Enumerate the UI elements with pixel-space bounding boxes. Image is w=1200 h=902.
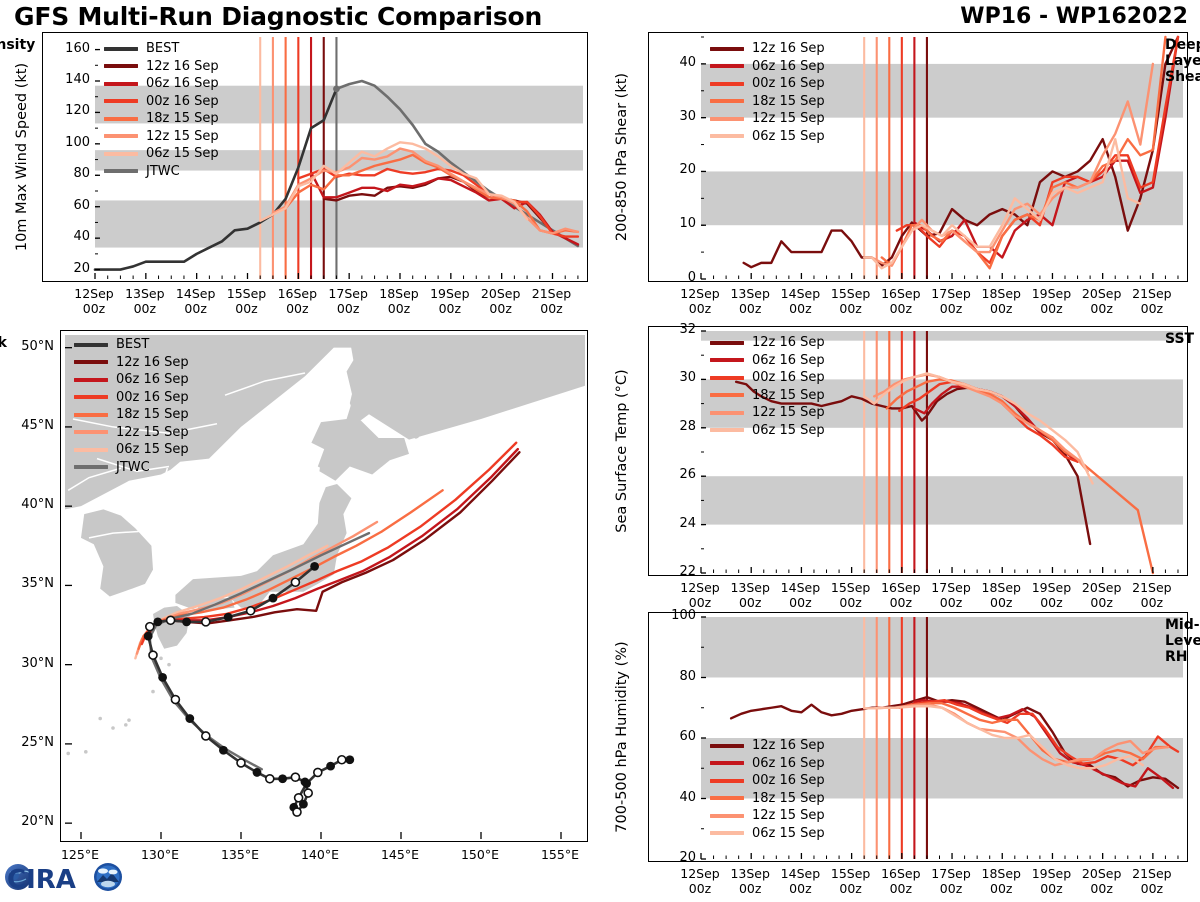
ytick-lat: 20°N [8, 814, 54, 829]
legend-item[interactable]: 06z 15 Sep [710, 422, 825, 440]
panel-tag-rh: Mid-Level RH [1165, 617, 1179, 665]
legend-swatch [710, 376, 744, 380]
legend-swatch [74, 465, 108, 469]
legend-swatch [74, 430, 108, 434]
legend-swatch [710, 428, 744, 432]
legend-swatch [104, 99, 138, 103]
ytick-lat: 30°N [8, 656, 54, 671]
legend-item[interactable]: 06z 16 Sep [74, 371, 189, 389]
xtick-lon: 155°E [530, 847, 590, 862]
legend-label: 12z 15 Sep [146, 130, 219, 143]
legend-track: BEST12z 16 Sep06z 16 Sep00z 16 Sep18z 15… [74, 336, 189, 476]
legend-label: 12z 15 Sep [752, 809, 825, 822]
legend-item[interactable]: 12z 15 Sep [74, 424, 189, 442]
legend-item[interactable]: JTWC [104, 163, 219, 181]
legend-item[interactable]: 06z 15 Sep [104, 145, 219, 163]
ylabel-rh: 700-500 hPa Humidity (%) [614, 641, 630, 832]
legend-shear: 12z 16 Sep06z 16 Sep00z 16 Sep18z 15 Sep… [710, 40, 825, 145]
legend-item[interactable]: 00z 16 Sep [74, 389, 189, 407]
ytick-sst: 26 [660, 467, 696, 482]
legend-label: 06z 15 Sep [116, 443, 189, 456]
ytick-rh: 60 [660, 729, 696, 744]
xtick-lon: 150°E [450, 847, 510, 862]
xtick-hour-intensity: 00z [522, 301, 582, 316]
legend-item[interactable]: 06z 16 Sep [710, 352, 825, 370]
legend-label: 00z 16 Sep [752, 371, 825, 384]
legend-label: 06z 16 Sep [116, 373, 189, 386]
ytick-intensity: 80 [54, 166, 90, 181]
legend-swatch [74, 378, 108, 382]
xtick-date-shear: 21Sep [1122, 286, 1182, 301]
legend-swatch [104, 134, 138, 138]
legend-item[interactable]: 12z 15 Sep [710, 807, 825, 825]
xtick-lon: 135°E [210, 847, 270, 862]
legend-swatch [710, 831, 744, 835]
legend-item[interactable]: BEST [104, 40, 219, 58]
panel-tag-shear: Deep-Layer Shear [1165, 37, 1179, 85]
ytick-sst: 22 [660, 564, 696, 579]
legend-swatch [104, 117, 138, 121]
legend-label: 12z 16 Sep [752, 42, 825, 55]
legend-item[interactable]: 12z 15 Sep [710, 404, 825, 422]
page-title: GFS Multi-Run Diagnostic Comparison [14, 2, 542, 31]
legend-swatch [710, 82, 744, 86]
legend-item[interactable]: 06z 15 Sep [74, 441, 189, 459]
ytick-intensity: 20 [54, 261, 90, 276]
legend-label: 18z 15 Sep [146, 112, 219, 125]
legend-item[interactable]: 00z 16 Sep [710, 369, 825, 387]
ytick-sst: 32 [660, 322, 696, 337]
legend-label: 00z 16 Sep [752, 77, 825, 90]
legend-swatch [74, 343, 108, 347]
panel-tag-intensity: Intensity [0, 37, 579, 53]
xtick-lon: 140°E [290, 847, 350, 862]
legend-sst: 12z 16 Sep06z 16 Sep00z 16 Sep18z 15 Sep… [710, 334, 825, 439]
legend-item[interactable]: 00z 16 Sep [710, 75, 825, 93]
legend-item[interactable]: JTWC [74, 459, 189, 477]
legend-label: 00z 16 Sep [752, 774, 825, 787]
ytick-sst: 30 [660, 370, 696, 385]
ylabel-intensity: 10m Max Wind Speed (kt) [14, 63, 30, 251]
legend-label: 12z 15 Sep [116, 426, 189, 439]
legend-swatch [710, 411, 744, 415]
ylabel-shear: 200-850 hPa Shear (kt) [614, 73, 630, 241]
legend-item[interactable]: 12z 16 Sep [710, 737, 825, 755]
ytick-intensity: 60 [54, 198, 90, 213]
legend-swatch [710, 796, 744, 800]
ytick-rh: 40 [660, 790, 696, 805]
ytick-shear: 10 [660, 216, 696, 231]
xtick-lon: 130°E [130, 847, 190, 862]
legend-swatch [710, 814, 744, 818]
legend-swatch [104, 64, 138, 68]
legend-label: 06z 15 Sep [752, 424, 825, 437]
legend-label: BEST [146, 42, 179, 55]
legend-label: 06z 16 Sep [146, 77, 219, 90]
legend-label: 12z 15 Sep [752, 406, 825, 419]
legend-item[interactable]: 00z 16 Sep [710, 772, 825, 790]
legend-item[interactable]: BEST [74, 336, 189, 354]
legend-swatch [104, 169, 138, 173]
legend-label: 06z 15 Sep [146, 147, 219, 160]
legend-label: 00z 16 Sep [116, 391, 189, 404]
panel-tag-sst: SST [1165, 331, 1179, 347]
legend-swatch [710, 341, 744, 345]
legend-item[interactable]: 12z 15 Sep [104, 128, 219, 146]
ytick-rh: 20 [660, 850, 696, 865]
ylabel-sst: Sea Surface Temp (°C) [614, 369, 630, 532]
legend-item[interactable]: 06z 16 Sep [710, 58, 825, 76]
ytick-intensity: 40 [54, 229, 90, 244]
ytick-intensity: 100 [54, 135, 90, 150]
ytick-lat: 35°N [8, 576, 54, 591]
legend-swatch [74, 395, 108, 399]
legend-swatch [104, 82, 138, 86]
legend-label: 06z 16 Sep [752, 60, 825, 73]
ytick-rh: 100 [660, 608, 696, 623]
legend-swatch [710, 393, 744, 397]
ytick-lat: 40°N [8, 497, 54, 512]
ytick-sst: 24 [660, 516, 696, 531]
legend-label: BEST [116, 338, 149, 351]
legend-label: 06z 16 Sep [752, 757, 825, 770]
legend-label: 12z 16 Sep [146, 60, 219, 73]
legend-label: 12z 16 Sep [116, 356, 189, 369]
legend-label: 18z 15 Sep [752, 792, 825, 805]
legend-swatch [74, 360, 108, 364]
ytick-shear: 0 [660, 270, 696, 285]
xtick-date-intensity: 21Sep [522, 286, 582, 301]
ytick-sst: 28 [660, 419, 696, 434]
legend-swatch [104, 47, 138, 51]
legend-label: 06z 15 Sep [752, 827, 825, 840]
cira-logo: CIRA [4, 858, 126, 898]
xtick-hour-shear: 00z [1122, 301, 1182, 316]
legend-item[interactable]: 12z 16 Sep [710, 334, 825, 352]
xtick-date-sst: 21Sep [1122, 580, 1182, 595]
ytick-lat: 45°N [8, 418, 54, 433]
legend-swatch [710, 47, 744, 51]
legend-item[interactable]: 06z 16 Sep [104, 75, 219, 93]
ytick-intensity: 120 [54, 103, 90, 118]
xtick-hour-sst: 00z [1122, 595, 1182, 610]
legend-label: JTWC [116, 461, 150, 474]
ytick-shear: 20 [660, 162, 696, 177]
legend-label: 12z 15 Sep [752, 112, 825, 125]
storm-id-title: WP16 - WP162022 [960, 4, 1188, 29]
legend-rh: 12z 16 Sep06z 16 Sep00z 16 Sep18z 15 Sep… [710, 737, 825, 842]
legend-swatch [710, 761, 744, 765]
legend-swatch [74, 448, 108, 452]
legend-item[interactable]: 12z 16 Sep [74, 354, 189, 372]
legend-swatch [710, 117, 744, 121]
legend-label: 06z 16 Sep [752, 354, 825, 367]
legend-item[interactable]: 18z 15 Sep [710, 387, 825, 405]
legend-swatch [104, 152, 138, 156]
legend-label: JTWC [146, 165, 180, 178]
ytick-lat: 25°N [8, 735, 54, 750]
legend-item[interactable]: 06z 16 Sep [710, 755, 825, 773]
legend-label: 00z 16 Sep [146, 95, 219, 108]
xtick-hour-rh: 00z [1122, 881, 1182, 896]
legend-label: 12z 16 Sep [752, 739, 825, 752]
legend-item[interactable]: 12z 16 Sep [104, 58, 219, 76]
legend-item[interactable]: 18z 15 Sep [74, 406, 189, 424]
legend-swatch [710, 99, 744, 103]
legend-swatch [710, 134, 744, 138]
legend-swatch [710, 744, 744, 748]
legend-item[interactable]: 06z 15 Sep [710, 825, 825, 843]
xtick-date-rh: 21Sep [1122, 866, 1182, 881]
legend-item[interactable]: 12z 15 Sep [710, 110, 825, 128]
xtick-lon: 145°E [370, 847, 430, 862]
legend-item[interactable]: 18z 15 Sep [710, 93, 825, 111]
legend-swatch [710, 358, 744, 362]
legend-label: 18z 15 Sep [116, 408, 189, 421]
legend-swatch [710, 64, 744, 68]
cira-logo-text: CIRA [7, 865, 76, 895]
legend-item[interactable]: 18z 15 Sep [104, 110, 219, 128]
legend-item[interactable]: 18z 15 Sep [710, 790, 825, 808]
legend-item[interactable]: 06z 15 Sep [710, 128, 825, 146]
xtick-lon: 125°E [50, 847, 110, 862]
legend-label: 18z 15 Sep [752, 95, 825, 108]
legend-label: 06z 15 Sep [752, 130, 825, 143]
ytick-intensity: 140 [54, 72, 90, 87]
legend-swatch [74, 413, 108, 417]
legend-item[interactable]: 12z 16 Sep [710, 40, 825, 58]
legend-intensity: BEST12z 16 Sep06z 16 Sep00z 16 Sep18z 15… [104, 40, 219, 180]
legend-item[interactable]: 00z 16 Sep [104, 93, 219, 111]
legend-swatch [710, 779, 744, 783]
legend-label: 18z 15 Sep [752, 389, 825, 402]
legend-label: 12z 16 Sep [752, 336, 825, 349]
ytick-shear: 30 [660, 109, 696, 124]
ytick-shear: 40 [660, 55, 696, 70]
ytick-rh: 80 [660, 669, 696, 684]
